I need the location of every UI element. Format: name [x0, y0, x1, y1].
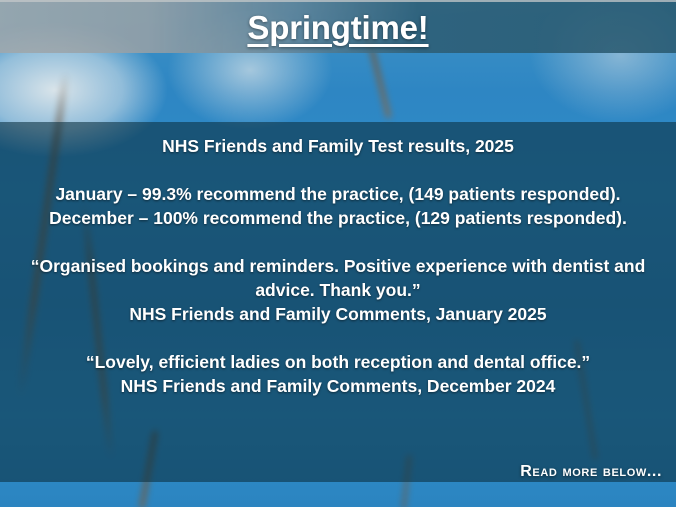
testimonial-attribution: NHS Friends and Family Comments, Decembe… — [8, 374, 668, 398]
results-heading: NHS Friends and Family Test results, 202… — [8, 134, 668, 158]
spacer — [8, 158, 668, 182]
testimonial-quote: “Lovely, efficient ladies on both recept… — [8, 350, 668, 374]
body-content: NHS Friends and Family Test results, 202… — [0, 122, 676, 482]
page-title: Springtime! — [247, 11, 428, 44]
read-more-cta[interactable]: Read more below... — [520, 463, 662, 481]
springtime-poster: Springtime! NHS Friends and Family Test … — [0, 0, 676, 507]
result-january: January – 99.3% recommend the practice, … — [8, 182, 668, 206]
results-heading-block: NHS Friends and Family Test results, 202… — [8, 122, 668, 158]
title-band: Springtime! — [0, 0, 676, 53]
spacer — [8, 326, 668, 350]
testimonial-january: “Organised bookings and reminders. Posit… — [8, 254, 668, 326]
result-december: December – 100% recommend the practice, … — [8, 206, 668, 230]
testimonial-attribution: NHS Friends and Family Comments, January… — [8, 302, 668, 326]
spacer — [8, 230, 668, 254]
testimonial-quote: “Organised bookings and reminders. Posit… — [8, 254, 668, 302]
results-block: January – 99.3% recommend the practice, … — [8, 182, 668, 230]
testimonial-december: “Lovely, efficient ladies on both recept… — [8, 350, 668, 398]
